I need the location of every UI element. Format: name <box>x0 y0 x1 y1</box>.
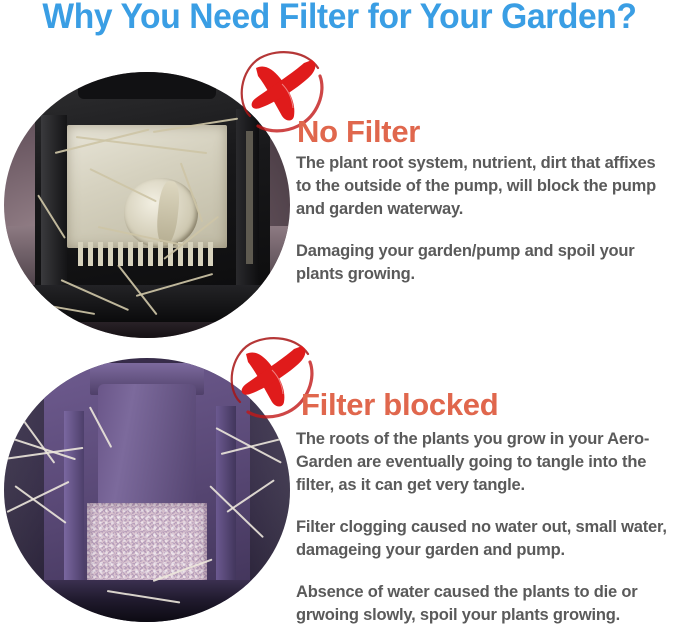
pump-top-notch <box>78 72 215 99</box>
housing-slot <box>246 131 253 264</box>
section-copy-filter-blocked: The roots of the plants you grow in your… <box>296 428 668 627</box>
pump-cylinder <box>98 384 195 521</box>
housing-pillar-left <box>41 115 67 291</box>
paragraph: The plant root system, nutrient, dirt th… <box>296 152 668 221</box>
housing-rail-left <box>64 411 84 601</box>
section-copy-no-filter: The plant root system, nutrient, dirt th… <box>296 152 668 286</box>
filter-comb-slots <box>78 242 215 266</box>
paragraph: Filter clogging caused no water out, sma… <box>296 516 668 562</box>
section-heading-filter-blocked: Filter blocked <box>301 388 498 422</box>
tank-floor <box>4 580 290 622</box>
section-heading-no-filter: No Filter <box>297 115 420 149</box>
paragraph: Damaging your garden/pump and spoil your… <box>296 240 668 286</box>
paragraph: Absence of water caused the plants to di… <box>296 581 668 627</box>
page-title: Why You Need Filter for Your Garden? <box>14 0 666 35</box>
paragraph: The roots of the plants you grow in your… <box>296 428 668 497</box>
